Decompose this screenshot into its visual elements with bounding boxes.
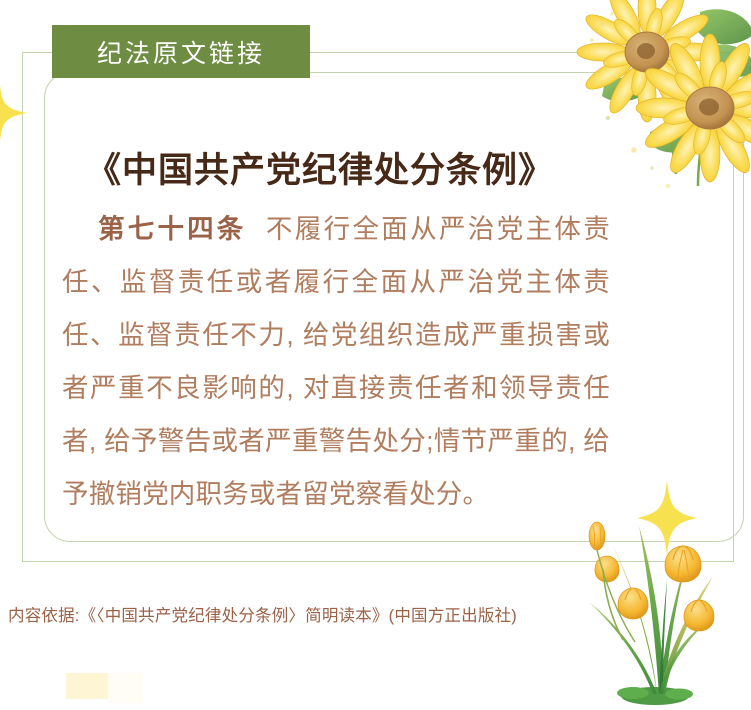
bottom-left-swatch-primary <box>66 673 108 699</box>
grass-plant-bottom-right <box>571 490 741 710</box>
section-banner-label: 纪法原文链接 <box>97 34 265 70</box>
sparkle-left-icon <box>0 85 28 141</box>
article-number: 第七十四条 <box>96 214 246 244</box>
article-paragraph: 第七十四条 不履行全面从严治党主体责任、监督责任或者履行全面从严治党主体责任、监… <box>62 203 610 521</box>
poster-canvas: 纪法原文链接 《中国共产党纪律处分条例》 第七十四条 不履行全面从严治党主体责任… <box>0 0 751 710</box>
sparkle-bottom-right-icon <box>636 480 698 556</box>
article-body-text: 不履行全面从严治党主体责任、监督责任或者履行全面从严治党主体责任、监督责任不力,… <box>62 214 610 509</box>
regulation-title: 《中国共产党纪律处分条例》 <box>0 142 640 193</box>
source-footnote: 内容依据:《〈中国共产党纪律处分条例〉简明读本》(中国方正出版社) <box>8 602 517 626</box>
section-banner[interactable]: 纪法原文链接 <box>52 25 310 78</box>
bottom-left-swatch-secondary <box>108 673 143 703</box>
